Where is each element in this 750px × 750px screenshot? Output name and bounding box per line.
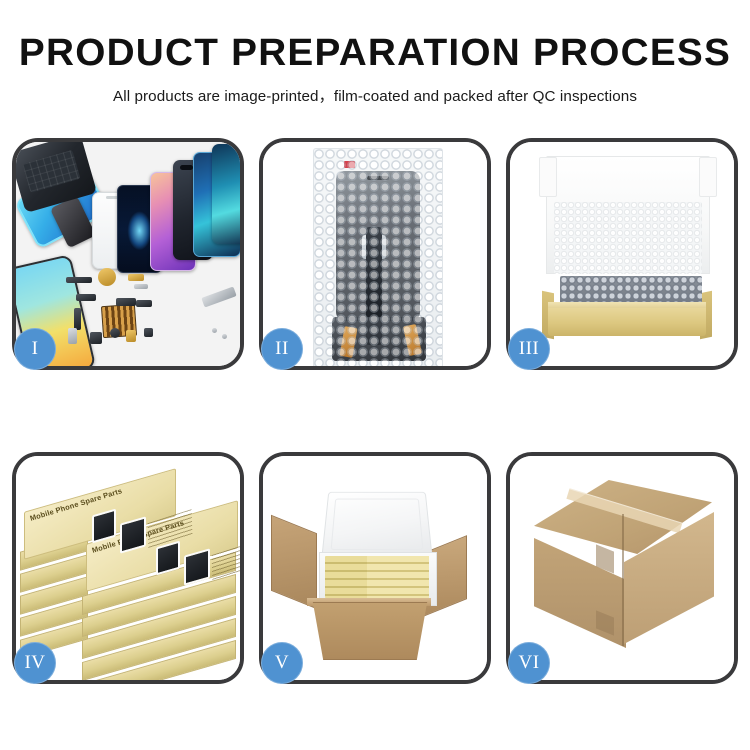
- white-foam-sheet: [554, 202, 702, 274]
- carton-flap-left: [271, 515, 317, 610]
- step-badge-4: IV: [14, 642, 56, 684]
- gold-coil-part: [98, 268, 116, 286]
- sealed-carton-scene: [510, 456, 734, 680]
- step-image-5: [263, 456, 487, 680]
- camera-module-part: [90, 332, 102, 344]
- step-image-1: [16, 142, 240, 366]
- screw-part-b: [222, 334, 227, 339]
- carton-front-panel: [305, 602, 435, 660]
- bubble-wrap-scene: [263, 142, 487, 366]
- box-window-phone-2b: [184, 548, 210, 585]
- process-steps-grid: I II: [12, 138, 738, 684]
- sim-tray-part: [68, 328, 77, 344]
- teal-curved-phone: [212, 144, 240, 244]
- tweezers-tool: [201, 286, 236, 307]
- step-image-2: [263, 142, 487, 366]
- retail-boxes-row-b: [367, 556, 429, 598]
- step-panel-6: VI: [506, 452, 738, 684]
- speaker-mesh-part: [66, 277, 92, 283]
- red-qc-label: [344, 161, 355, 168]
- vibrator-part: [110, 328, 120, 338]
- sensor-flex-part: [136, 300, 152, 307]
- bubble-wrap-bag: [313, 148, 443, 366]
- step-image-6: [510, 456, 734, 680]
- volume-flex-part: [76, 294, 96, 301]
- gold-flex-part: [128, 274, 144, 281]
- step-panel-2: II: [259, 138, 491, 370]
- step-image-4: Mobile Phone Spare Parts Mobile Phone Sp…: [16, 456, 240, 680]
- silver-bracket-part: [134, 284, 148, 289]
- button-part: [144, 328, 153, 337]
- foam-lid: [321, 492, 433, 559]
- carton-corner-edge: [622, 514, 624, 646]
- step-badge-1: I: [14, 328, 56, 370]
- step-badge-5: V: [261, 642, 303, 684]
- step-badge-2: II: [261, 328, 303, 370]
- step-panel-1: I: [12, 138, 244, 370]
- screw-part-a: [212, 328, 217, 333]
- page-header: PRODUCT PREPARATION PROCESS All products…: [0, 0, 750, 106]
- box-stack-scene: Mobile Phone Spare Parts Mobile Phone Sp…: [16, 456, 240, 680]
- page-subtitle: All products are image-printed，film-coat…: [0, 84, 750, 106]
- side-flex-part: [74, 308, 81, 330]
- camera-flex-part: [116, 298, 136, 306]
- step-badge-3: III: [508, 328, 550, 370]
- step-panel-5: V: [259, 452, 491, 684]
- step-badge-6: VI: [508, 642, 550, 684]
- tray-box-scene: [510, 142, 734, 366]
- step-panel-4: Mobile Phone Spare Parts Mobile Phone Sp…: [12, 452, 244, 684]
- carton-loading-scene: [263, 456, 487, 680]
- step-image-3: [510, 142, 734, 366]
- page-title: PRODUCT PREPARATION PROCESS: [0, 34, 750, 74]
- phone-parts-scene: [16, 142, 240, 366]
- step-panel-3: III: [506, 138, 738, 370]
- gold-ic-part: [126, 330, 136, 342]
- kraft-tray-front: [548, 308, 706, 336]
